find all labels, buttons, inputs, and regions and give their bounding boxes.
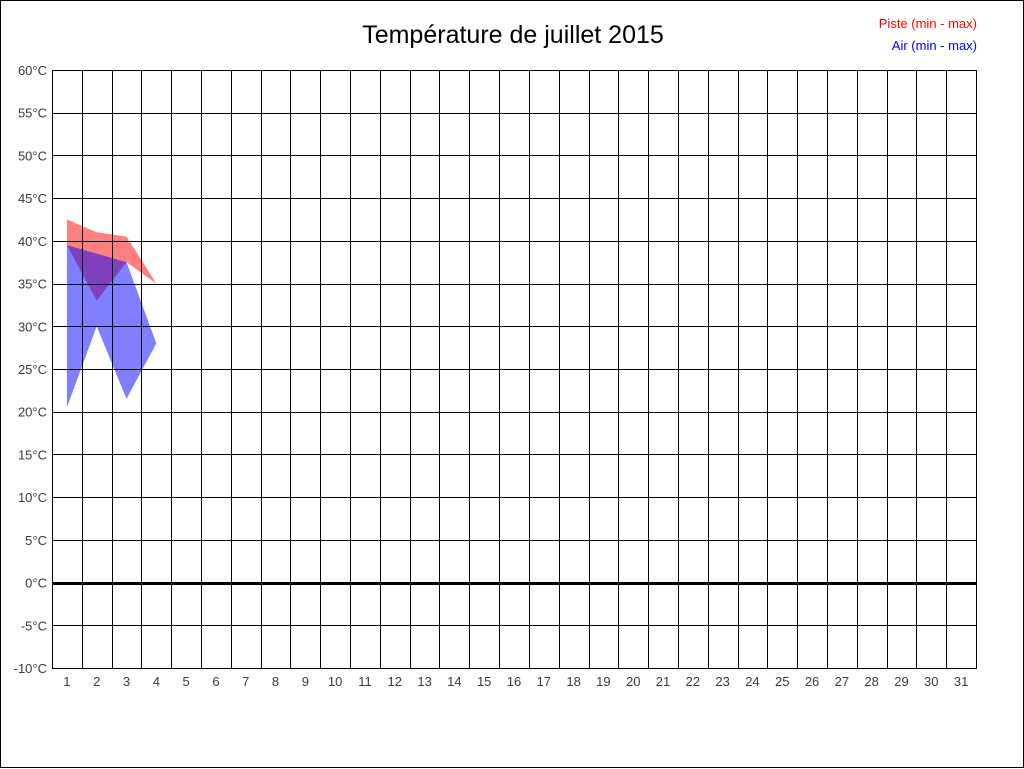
data-bands [67, 220, 156, 408]
y-tick-label: 55°C [18, 106, 47, 121]
x-tick-label: 28 [864, 674, 878, 689]
x-tick-label: 20 [626, 674, 640, 689]
x-tick-label: 7 [242, 674, 249, 689]
x-axis-labels: 1234567891011121314151617181920212223242… [63, 674, 968, 689]
x-tick-label: 14 [447, 674, 461, 689]
x-tick-label: 30 [924, 674, 938, 689]
x-tick-label: 29 [894, 674, 908, 689]
y-tick-label: 35°C [18, 277, 47, 292]
x-tick-label: 18 [566, 674, 580, 689]
grid-lines [52, 70, 977, 669]
chart-svg: 60°C55°C50°C45°C40°C35°C30°C25°C20°C15°C… [1, 1, 1024, 769]
x-tick-label: 12 [388, 674, 402, 689]
x-tick-label: 4 [153, 674, 160, 689]
y-tick-label: 25°C [18, 362, 47, 377]
y-tick-label: -5°C [21, 618, 47, 633]
x-tick-label: 8 [272, 674, 279, 689]
x-tick-label: 11 [358, 674, 372, 689]
x-tick-label: 22 [686, 674, 700, 689]
x-tick-label: 10 [328, 674, 342, 689]
y-axis-labels: 60°C55°C50°C45°C40°C35°C30°C25°C20°C15°C… [14, 63, 47, 676]
x-tick-label: 16 [507, 674, 521, 689]
y-tick-label: 5°C [25, 533, 47, 548]
x-tick-label: 2 [93, 674, 100, 689]
x-tick-label: 27 [835, 674, 849, 689]
y-tick-label: 60°C [18, 63, 47, 78]
x-tick-label: 24 [745, 674, 759, 689]
x-tick-label: 6 [212, 674, 219, 689]
x-tick-label: 5 [183, 674, 190, 689]
x-tick-label: 15 [477, 674, 491, 689]
x-tick-label: 17 [537, 674, 551, 689]
y-tick-label: -10°C [14, 661, 47, 676]
chart-page: Température de juillet 2015 Piste (min -… [0, 0, 1024, 768]
x-tick-label: 31 [954, 674, 968, 689]
y-tick-label: 0°C [25, 576, 47, 591]
y-tick-label: 15°C [18, 447, 47, 462]
x-tick-label: 25 [775, 674, 789, 689]
y-tick-label: 10°C [18, 490, 47, 505]
y-tick-label: 45°C [18, 191, 47, 206]
x-tick-label: 19 [596, 674, 610, 689]
y-tick-label: 50°C [18, 148, 47, 163]
plot-area: 60°C55°C50°C45°C40°C35°C30°C25°C20°C15°C… [1, 1, 1024, 769]
x-tick-label: 23 [715, 674, 729, 689]
y-tick-label: 30°C [18, 319, 47, 334]
x-tick-label: 21 [656, 674, 670, 689]
y-tick-label: 20°C [18, 405, 47, 420]
x-tick-label: 26 [805, 674, 819, 689]
x-tick-label: 13 [417, 674, 431, 689]
x-tick-label: 9 [302, 674, 309, 689]
x-tick-label: 1 [63, 674, 70, 689]
x-tick-label: 3 [123, 674, 130, 689]
y-tick-label: 40°C [18, 234, 47, 249]
